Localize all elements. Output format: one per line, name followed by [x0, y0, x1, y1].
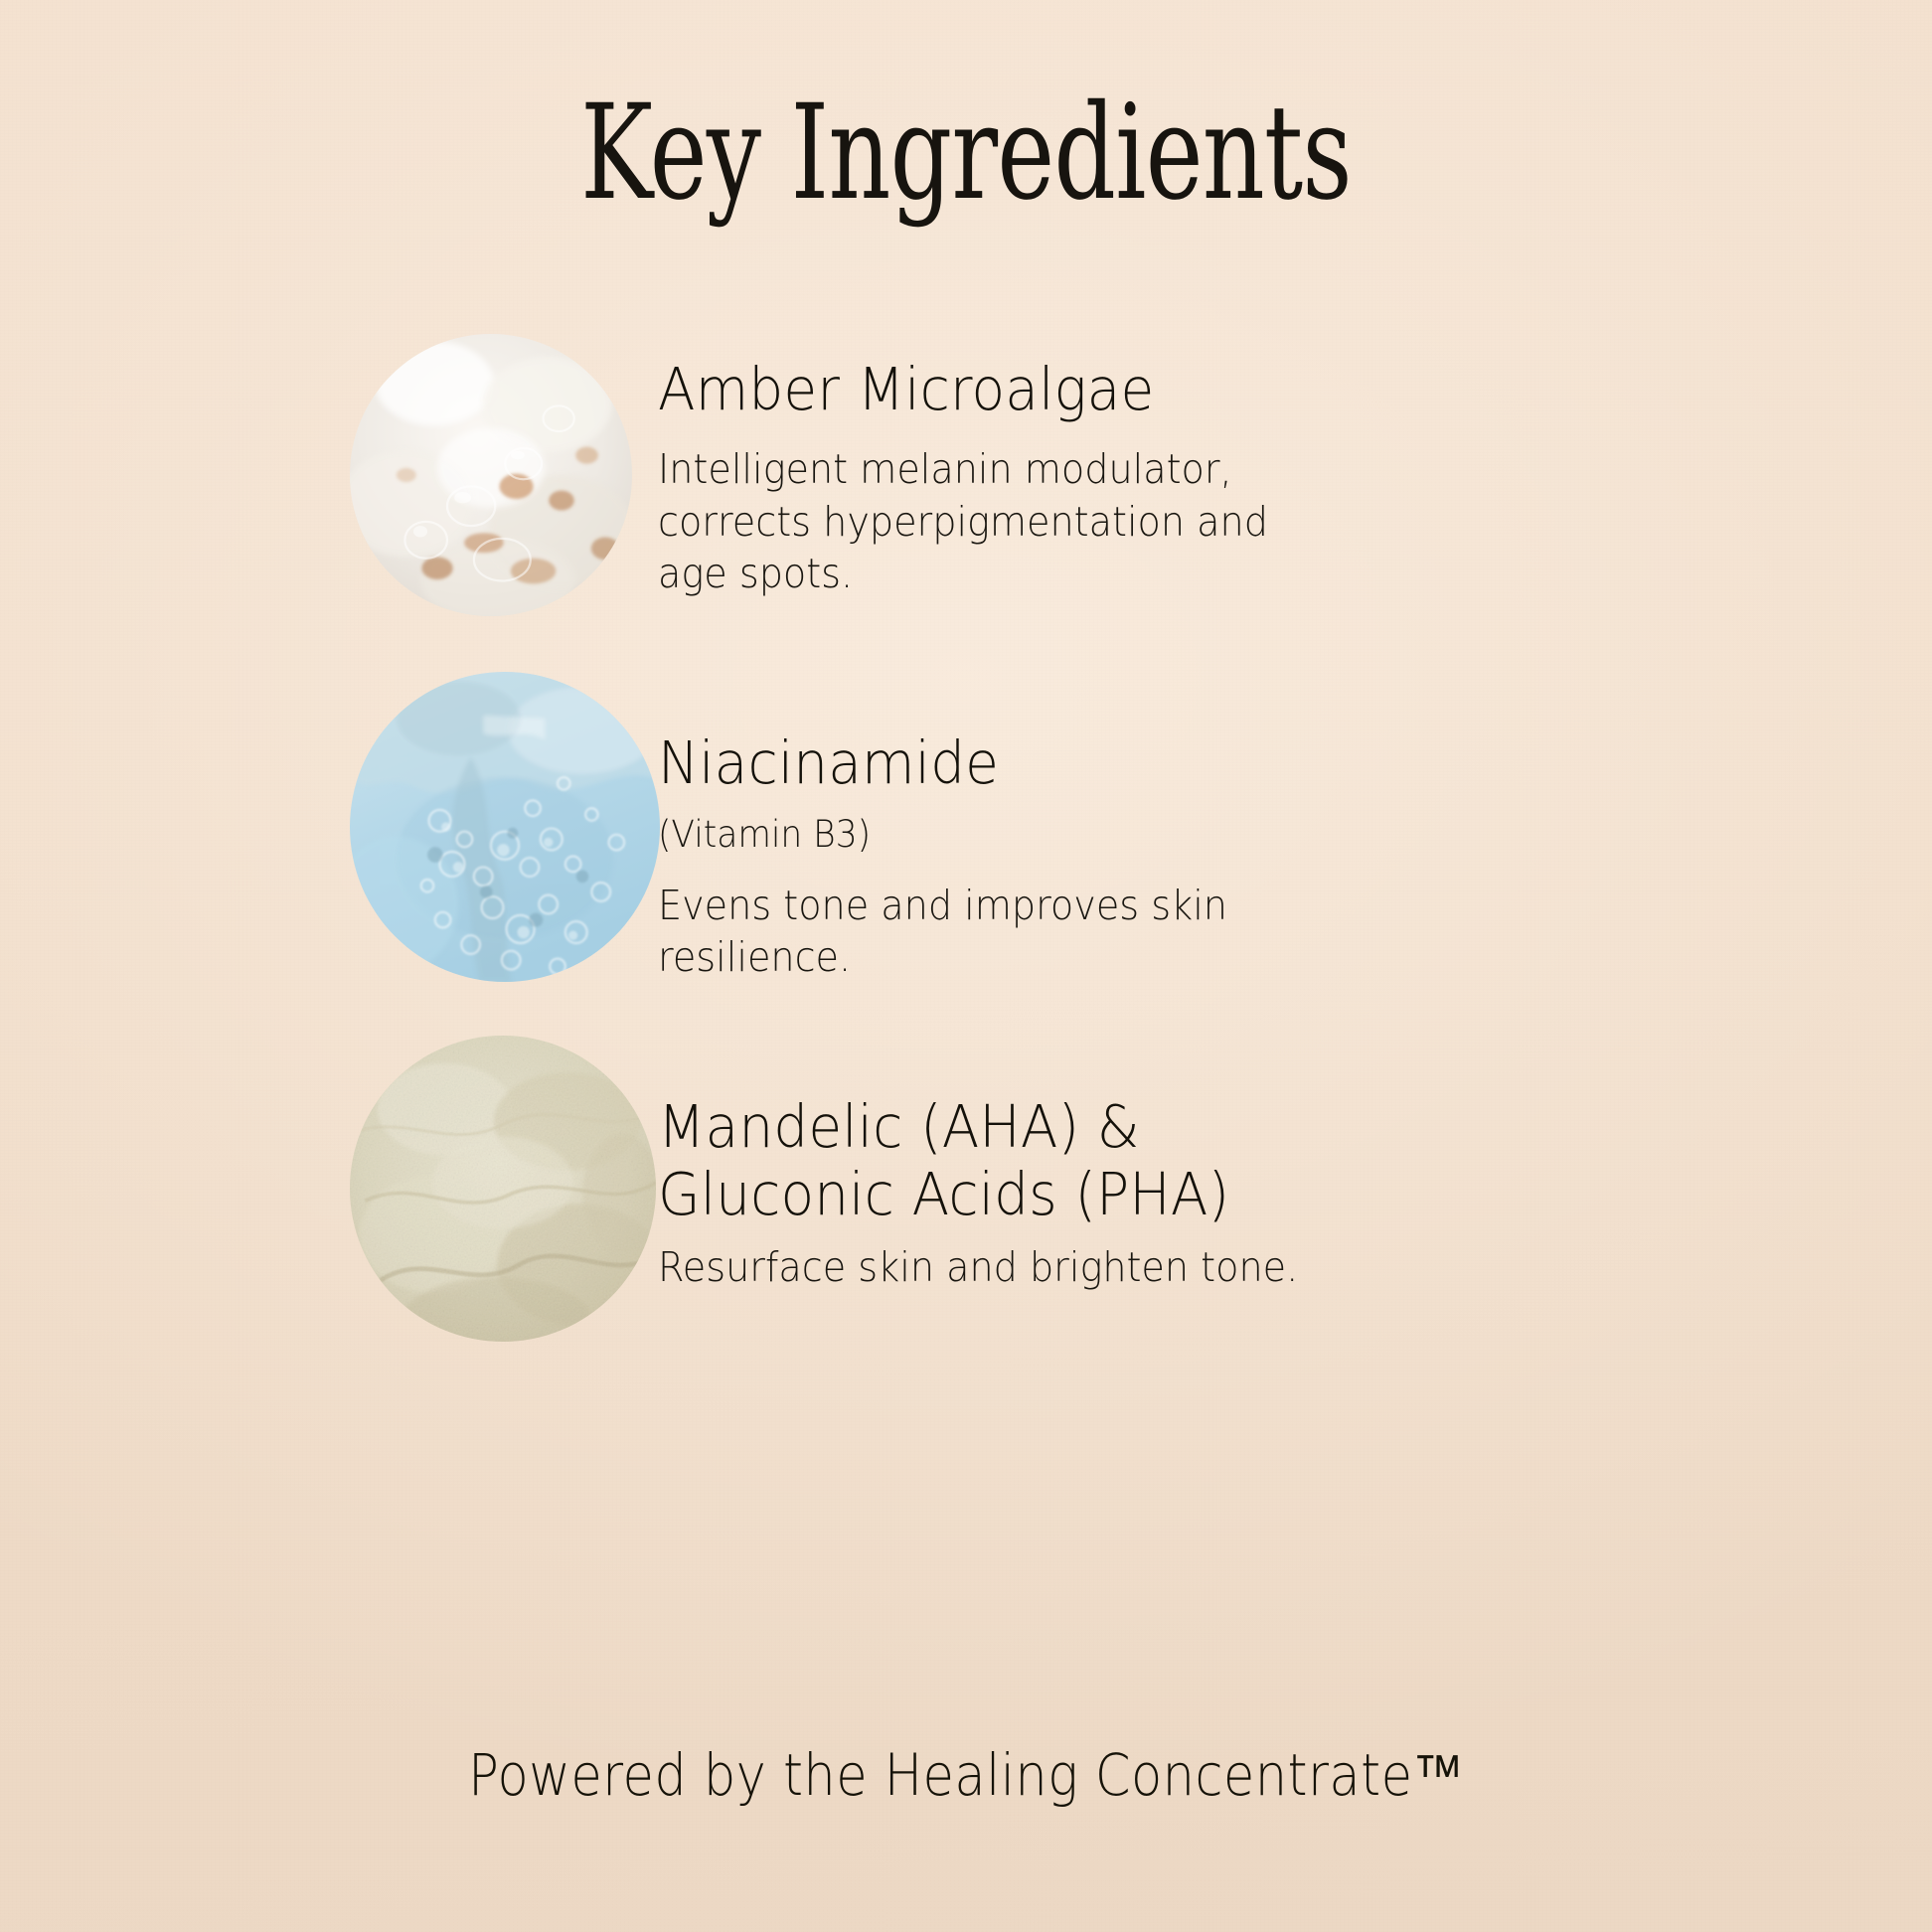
ingredient-name: Niacinamide	[658, 729, 1333, 797]
ingredient-image-niacinamide	[350, 672, 660, 982]
ingredient-description: Resurface skin and brighten tone.	[658, 1241, 1333, 1293]
ingredient-name: Mandelic (AHA) & Gluconic Acids (PHA)	[658, 1093, 1333, 1229]
ingredient-text-mandelic-gluconic-acids: Mandelic (AHA) & Gluconic Acids (PHA) Re…	[658, 1093, 1383, 1293]
ingredient-image-mandelic-gluconic-acids	[350, 1036, 656, 1342]
ingredient-name: Amber Microalgae	[658, 356, 1333, 423]
ingredient-image-amber-microalgae	[350, 334, 632, 616]
ingredient-text-amber-microalgae: Amber Microalgae Intelligent melanin mod…	[658, 356, 1383, 600]
ingredient-description: Intelligent melanin modulator, corrects …	[658, 443, 1333, 599]
ingredient-description: Evens tone and improves skin resilience.	[658, 880, 1333, 984]
key-ingredients-page: Key Ingredients	[0, 0, 1932, 1932]
ingredient-subtitle: (Vitamin B3)	[658, 811, 1333, 859]
page-title: Key Ingredients	[251, 87, 1682, 219]
ingredient-text-niacinamide: Niacinamide (Vitamin B3) Evens tone and …	[658, 729, 1383, 983]
footer-tagline: Powered by the Healing Concentrate™	[116, 1741, 1817, 1809]
